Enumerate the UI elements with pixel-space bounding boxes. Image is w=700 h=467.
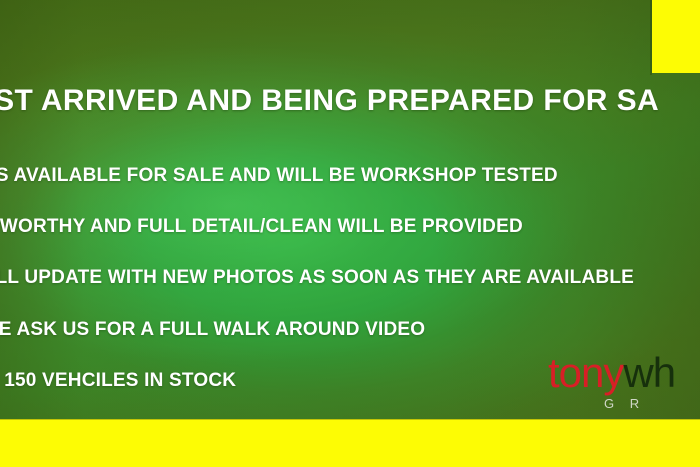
logo-subtitle: G R bbox=[604, 396, 700, 411]
logo-word-secondary: wh bbox=[623, 349, 675, 396]
logo-wordmark: tonywh bbox=[548, 352, 700, 394]
banner-copy: UST ARRIVED AND BEING PREPARED FOR SA S … bbox=[0, 86, 700, 390]
banner-bullet-item: ADWORTHY AND FULL DETAIL/CLEAN WILL BE P… bbox=[0, 217, 700, 236]
yellow-accent-bar-bottom bbox=[0, 419, 700, 467]
yellow-accent-block-top-right bbox=[652, 0, 700, 73]
banner-headline: UST ARRIVED AND BEING PREPARED FOR SA bbox=[0, 86, 700, 116]
dealer-logo: tonywh G R bbox=[548, 352, 700, 411]
dealer-placeholder-banner: UST ARRIVED AND BEING PREPARED FOR SA S … bbox=[0, 0, 700, 467]
banner-bullet-item: S IS AVAILABLE FOR SALE AND WILL BE WORK… bbox=[0, 166, 700, 185]
logo-word-primary: tony bbox=[548, 349, 623, 396]
banner-bullet-item: WILL UPDATE WITH NEW PHOTOS AS SOON AS T… bbox=[0, 268, 700, 287]
banner-bullet-item: ASE ASK US FOR A FULL WALK AROUND VIDEO bbox=[0, 320, 700, 339]
